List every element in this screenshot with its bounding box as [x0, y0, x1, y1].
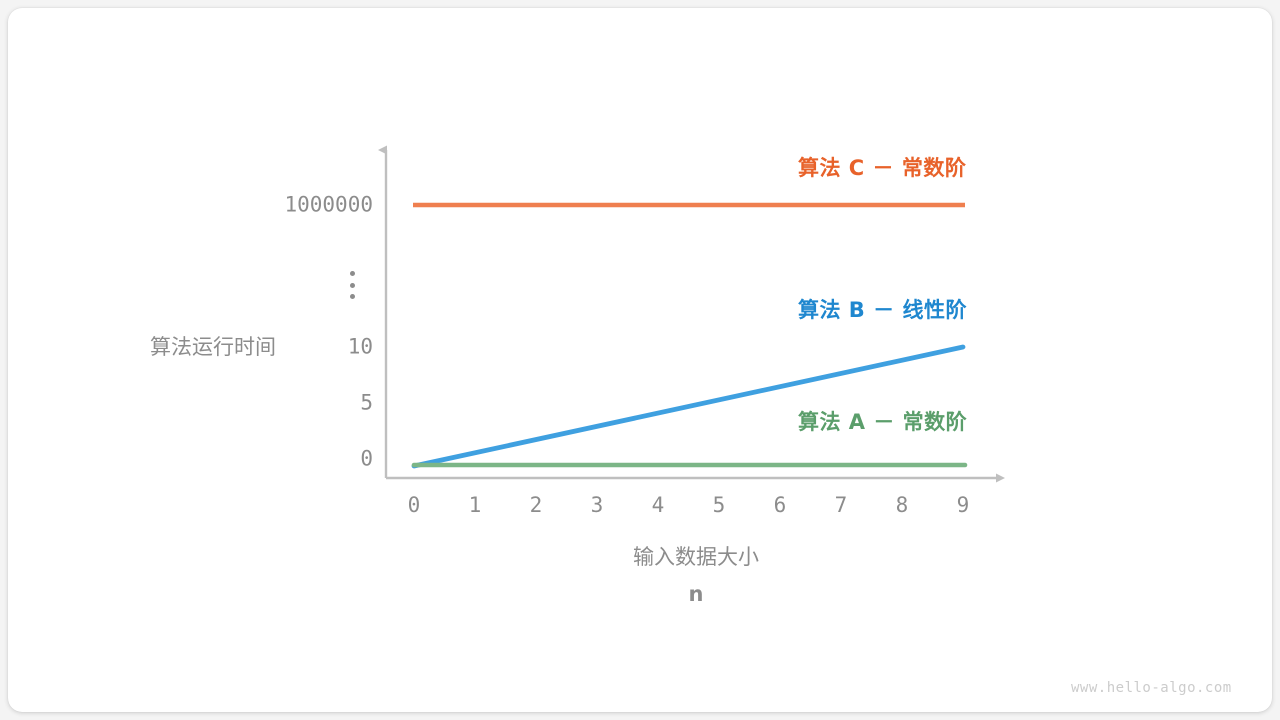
y-tick-0: 0 — [283, 449, 373, 470]
x-tick-2: 2 — [530, 495, 543, 516]
x-tick-1: 1 — [469, 495, 482, 516]
x-tick-0: 0 — [408, 495, 421, 516]
x-tick-9: 9 — [957, 495, 970, 516]
y-axis-title: 算法运行时间 — [133, 337, 293, 358]
x-tick-5: 5 — [713, 495, 726, 516]
chart-card: 1000000 10 5 0 算法运行时间 0 1 2 3 4 5 6 7 8 … — [8, 8, 1272, 712]
series-label-a: 算法 A － 常数阶 — [798, 412, 967, 433]
complexity-chart — [8, 8, 1272, 712]
y-tick-10: 10 — [283, 337, 373, 358]
series-label-b: 算法 B － 线性阶 — [798, 300, 967, 321]
x-tick-8: 8 — [896, 495, 909, 516]
series-line-b — [414, 347, 963, 466]
y-tick-5: 5 — [283, 393, 373, 414]
y-axis-ellipsis-icon — [350, 271, 355, 299]
watermark-url: www.hello-algo.com — [1071, 680, 1232, 696]
x-axis-title-variable: n — [581, 584, 811, 605]
x-tick-3: 3 — [591, 495, 604, 516]
x-tick-4: 4 — [652, 495, 665, 516]
series-label-c: 算法 C － 常数阶 — [798, 158, 966, 179]
page-root: 1000000 10 5 0 算法运行时间 0 1 2 3 4 5 6 7 8 … — [0, 0, 1280, 720]
y-tick-1000000: 1000000 — [203, 195, 373, 216]
x-tick-7: 7 — [835, 495, 848, 516]
x-tick-6: 6 — [774, 495, 787, 516]
x-axis-title: 输入数据大小 — [581, 547, 811, 568]
